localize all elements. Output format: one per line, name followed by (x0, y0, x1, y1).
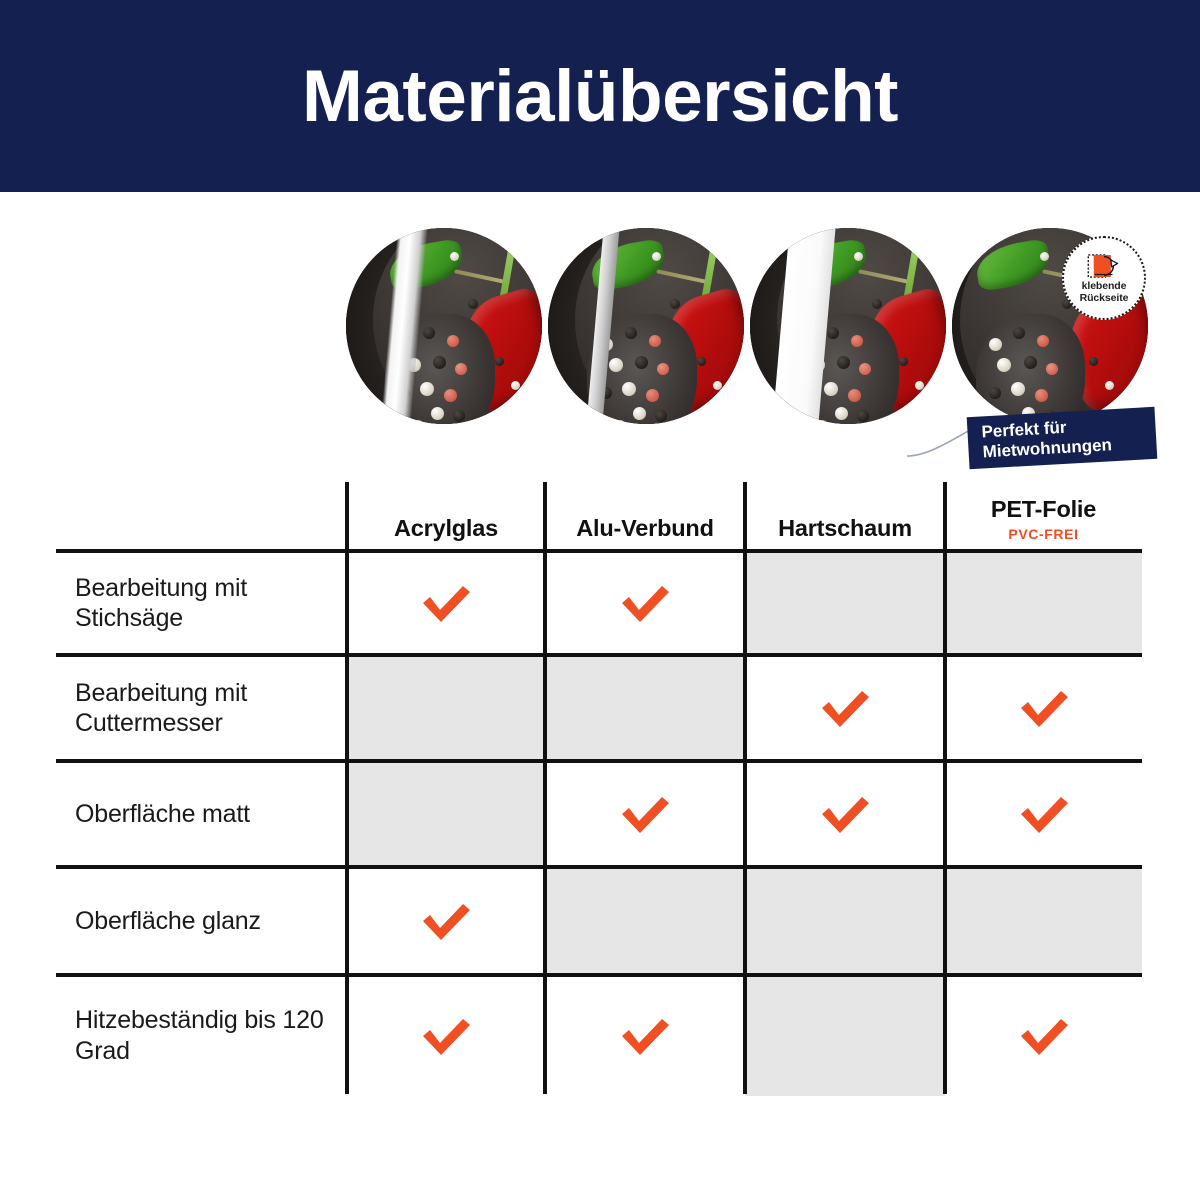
product-circle (750, 228, 946, 424)
row-label-cuttermesser: Bearbeitung mit Cuttermesser (56, 655, 347, 761)
header-banner: Materialübersicht (0, 0, 1200, 192)
material-overview-infographic: Materialübersicht (0, 0, 1200, 1200)
table-column-divider-1 (345, 482, 349, 1094)
orange-checkmark-icon (617, 792, 673, 836)
table-rule-1 (56, 653, 1142, 657)
table-column-divider-3 (743, 482, 747, 1094)
peppercorn-white (915, 381, 924, 390)
adhesive-backing-badge: klebende Rückseite (1062, 236, 1146, 320)
orange-checkmark-icon (1016, 792, 1072, 836)
peppercorn-white (713, 381, 722, 390)
orange-checkmark-icon (418, 899, 474, 943)
column-header-acrylglas: Acrylglas (347, 482, 545, 551)
cell-r1-c2 (745, 655, 945, 761)
row-label-oberflaeche-matt: Oberfläche matt (56, 761, 347, 867)
product-circle (346, 228, 542, 424)
peppercorn-white (854, 252, 863, 261)
rental-friendly-ribbon: Perfekt für Mietwohnungen (967, 407, 1158, 469)
cell-r4-c2 (745, 975, 945, 1096)
column-header-label: Hartschaum (778, 515, 912, 542)
cell-r3-c3 (945, 867, 1142, 975)
product-photo (548, 228, 744, 424)
peppercorn-white (652, 252, 661, 261)
table-rule-2 (56, 759, 1142, 763)
orange-checkmark-icon (1016, 686, 1072, 730)
table-grid: Acrylglas Alu-Verbund Hartschaum PET-Fol… (56, 482, 1142, 1096)
peel-corner-icon (1087, 252, 1121, 280)
row-label-text: Bearbeitung mit Stichsäge (75, 573, 347, 634)
table-column-divider-2 (543, 482, 547, 1094)
product-photo (346, 228, 542, 424)
column-header-label: PET-Folie (991, 496, 1096, 523)
cell-r3-c1 (545, 867, 745, 975)
column-header-pet-folie: PET-Folie PVC-FREI (945, 482, 1142, 551)
peppercorn-black (468, 299, 478, 309)
column-header-hartschaum: Hartschaum (745, 482, 945, 551)
table-rule-3 (56, 865, 1142, 869)
adhesive-badge-line1: klebende (1082, 281, 1127, 292)
product-image-pet-folie[interactable]: klebende Rückseite (952, 228, 1148, 424)
column-header-label: Acrylglas (394, 515, 498, 542)
table-corner-cell (56, 482, 347, 551)
cell-r1-c3 (945, 655, 1142, 761)
cell-r0-c3 (945, 551, 1142, 655)
row-label-text: Oberfläche matt (75, 799, 250, 830)
orange-checkmark-icon (817, 792, 873, 836)
row-label-text: Oberfläche glanz (75, 906, 261, 937)
peppercorn-white (450, 252, 459, 261)
product-image-acrylglas[interactable] (346, 228, 542, 424)
orange-checkmark-icon (418, 1014, 474, 1058)
orange-checkmark-icon (817, 686, 873, 730)
orange-checkmark-icon (1016, 1014, 1072, 1058)
cell-r0-c2 (745, 551, 945, 655)
peppercorn-black (670, 299, 680, 309)
page-title: Materialübersicht (302, 60, 898, 133)
row-label-oberflaeche-glanz: Oberfläche glanz (56, 867, 347, 975)
peppercorn-black (872, 299, 882, 309)
table-rule-header (56, 549, 1142, 553)
cell-r3-c2 (745, 867, 945, 975)
pvc-free-badge: PVC-FREI (1008, 526, 1078, 542)
orange-checkmark-icon (418, 581, 474, 625)
cell-r2-c0 (347, 761, 545, 867)
cell-r1-c0 (347, 655, 545, 761)
row-label-text: Hitzebeständig bis 120 Grad (75, 1005, 347, 1066)
orange-checkmark-icon (617, 581, 673, 625)
cell-r4-c1 (545, 975, 745, 1096)
peppercorn-white (1105, 381, 1114, 390)
column-header-alu-verbund: Alu-Verbund (545, 482, 745, 551)
cell-r2-c3 (945, 761, 1142, 867)
product-image-hartschaum[interactable] (750, 228, 946, 424)
row-label-hitzebestaendig: Hitzebeständig bis 120 Grad (56, 975, 347, 1096)
cell-r2-c2 (745, 761, 945, 867)
product-image-alu-verbund[interactable] (548, 228, 744, 424)
material-comparison-table: Acrylglas Alu-Verbund Hartschaum PET-Fol… (56, 482, 1142, 1096)
cell-r0-c0 (347, 551, 545, 655)
row-label-stichsaege: Bearbeitung mit Stichsäge (56, 551, 347, 655)
row-label-text: Bearbeitung mit Cuttermesser (75, 678, 347, 739)
peppercorn-white (511, 381, 520, 390)
table-rule-4 (56, 973, 1142, 977)
column-header-label: Alu-Verbund (576, 515, 714, 542)
mortar-bowl (976, 314, 1086, 424)
cell-r2-c1 (545, 761, 745, 867)
cell-r1-c1 (545, 655, 745, 761)
cell-r4-c0 (347, 975, 545, 1096)
orange-checkmark-icon (617, 1014, 673, 1058)
cell-r3-c0 (347, 867, 545, 975)
peppercorn-white (1040, 252, 1049, 261)
cell-r4-c3 (945, 975, 1142, 1096)
adhesive-badge-line2: Rückseite (1080, 293, 1129, 304)
product-circle (548, 228, 744, 424)
table-column-divider-4 (943, 482, 947, 1094)
peppercorn-cluster (976, 314, 1086, 424)
product-image-row: klebende Rückseite (0, 228, 1200, 438)
cell-r0-c1 (545, 551, 745, 655)
